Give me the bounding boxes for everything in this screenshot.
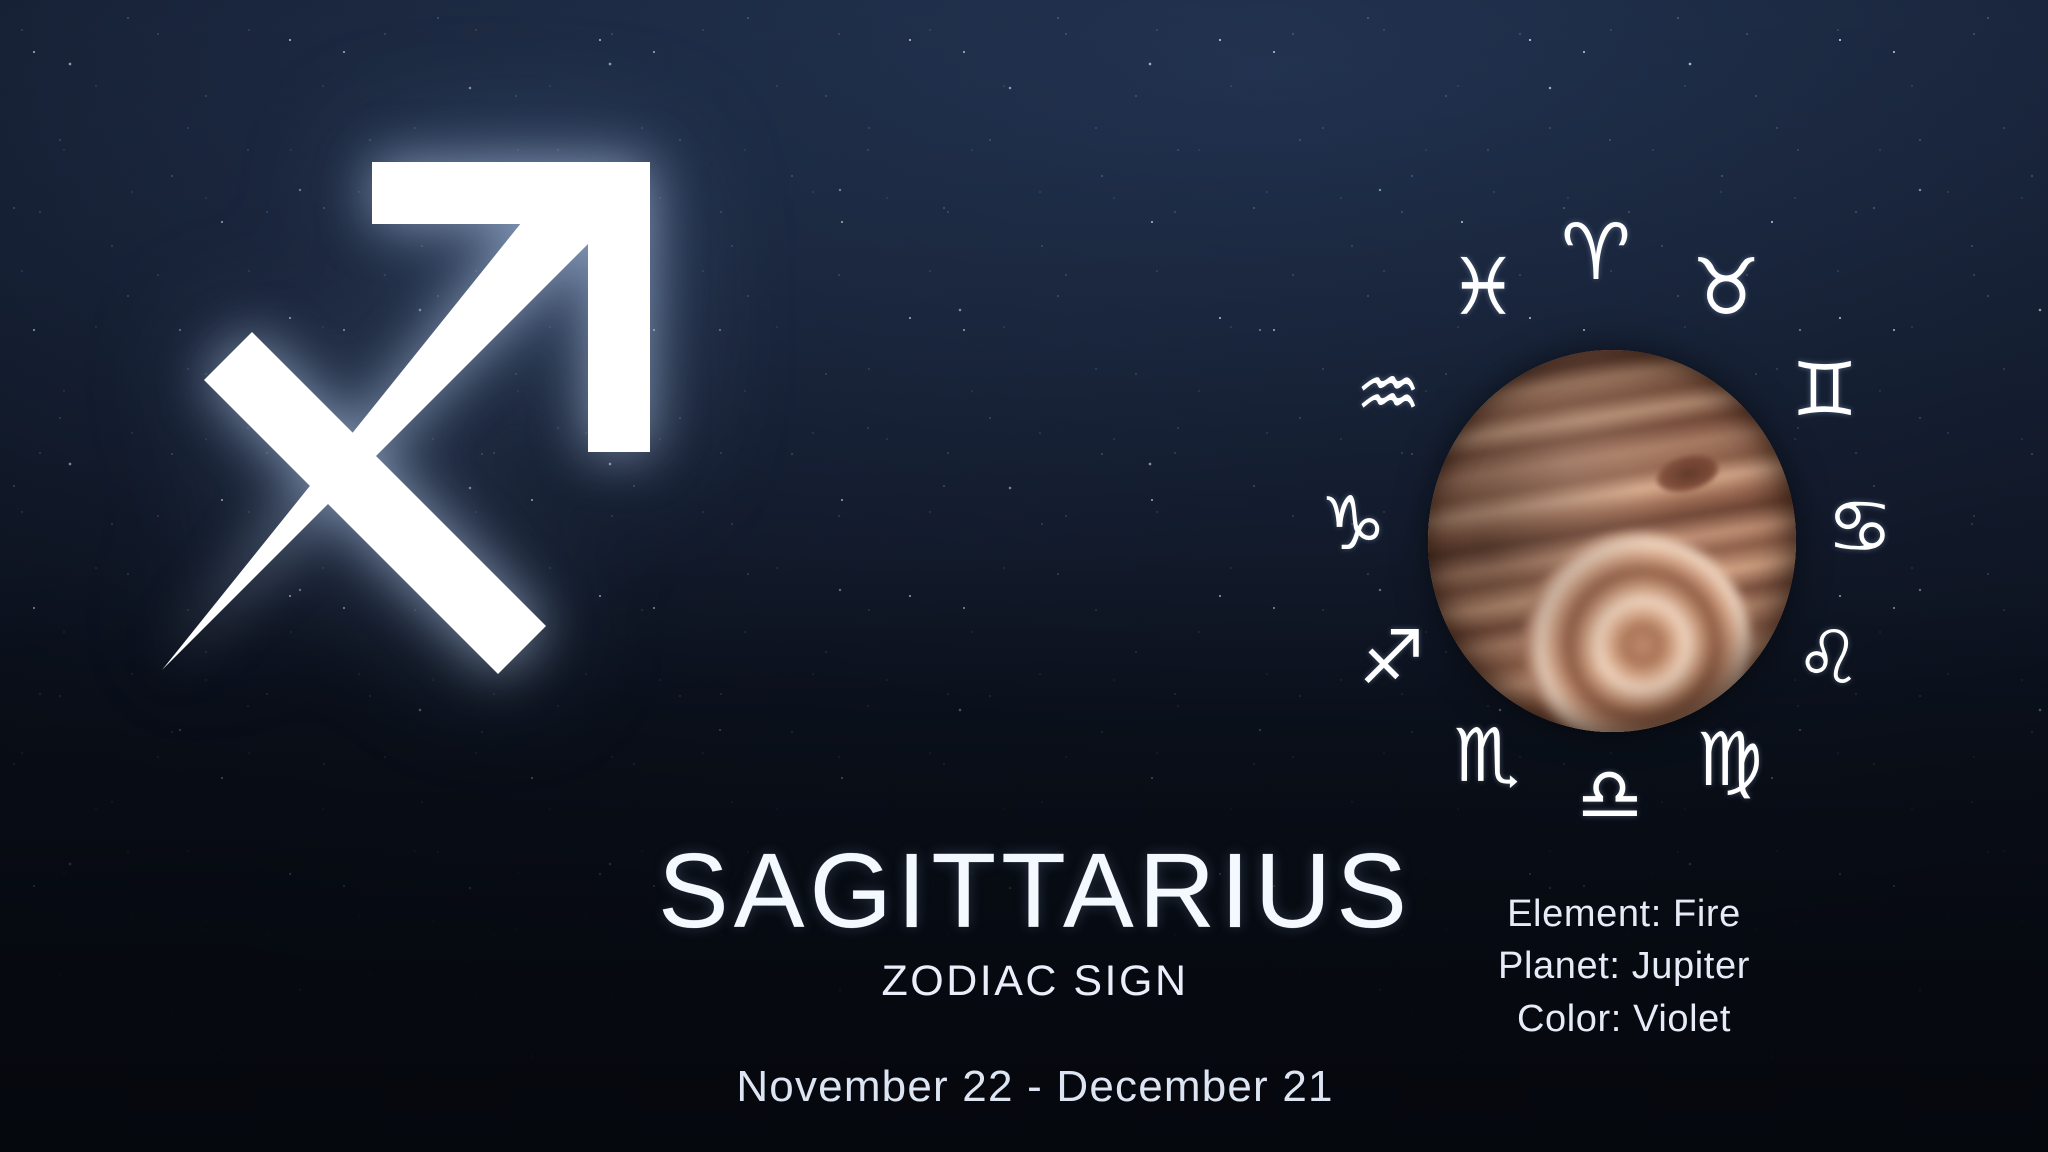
zodiac-symbol-aries: ♈ xyxy=(1561,214,1631,292)
zodiac-symbol-capricorn: ♑ xyxy=(1320,487,1386,561)
sign-date-range: November 22 - December 21 xyxy=(520,1065,1550,1109)
zodiac-symbol-sagittarius: ♐ xyxy=(1359,621,1425,695)
attribute-element: Element: Fire xyxy=(1398,888,1850,940)
page-title: SAGITTARIUS xyxy=(520,838,1550,944)
sagittarius-arrow-glyph xyxy=(150,150,670,690)
page-subtitle: ZODIAC SIGN xyxy=(520,960,1550,1003)
zodiac-symbol-scorpio: ♏ xyxy=(1454,719,1520,793)
zodiac-symbol-libra: ♎ xyxy=(1577,758,1643,832)
zodiac-symbol-aquarius: ♒ xyxy=(1355,357,1421,431)
zodiac-symbol-gemini: ♊ xyxy=(1792,353,1858,427)
zodiac-symbol-taurus: ♉ xyxy=(1691,249,1761,327)
jupiter-planet xyxy=(1428,350,1796,732)
attribute-planet: Planet: Jupiter xyxy=(1398,940,1850,992)
zodiac-wheel: ♈♉♊♋♌♍♎♏♐♑♒♓ xyxy=(1258,186,1962,890)
sign-title-block: SAGITTARIUS ZODIAC SIGN November 22 - De… xyxy=(520,838,1550,1109)
zodiac-symbol-pisces: ♓ xyxy=(1448,249,1518,327)
zodiac-symbol-cancer: ♋ xyxy=(1827,490,1893,564)
planet-rim-shadow xyxy=(1428,350,1796,732)
zodiac-symbol-virgo: ♍ xyxy=(1697,723,1763,797)
sign-attributes: Element: Fire Planet: Jupiter Color: Vio… xyxy=(1398,888,1850,1045)
planet-sphere xyxy=(1428,350,1796,732)
attribute-color: Color: Violet xyxy=(1398,993,1850,1045)
zodiac-poster: ♈♉♊♋♌♍♎♏♐♑♒♓ SAGITTARIUS ZODIAC SIGN Nov… xyxy=(0,0,2048,1152)
zodiac-symbol-leo: ♌ xyxy=(1795,621,1861,695)
